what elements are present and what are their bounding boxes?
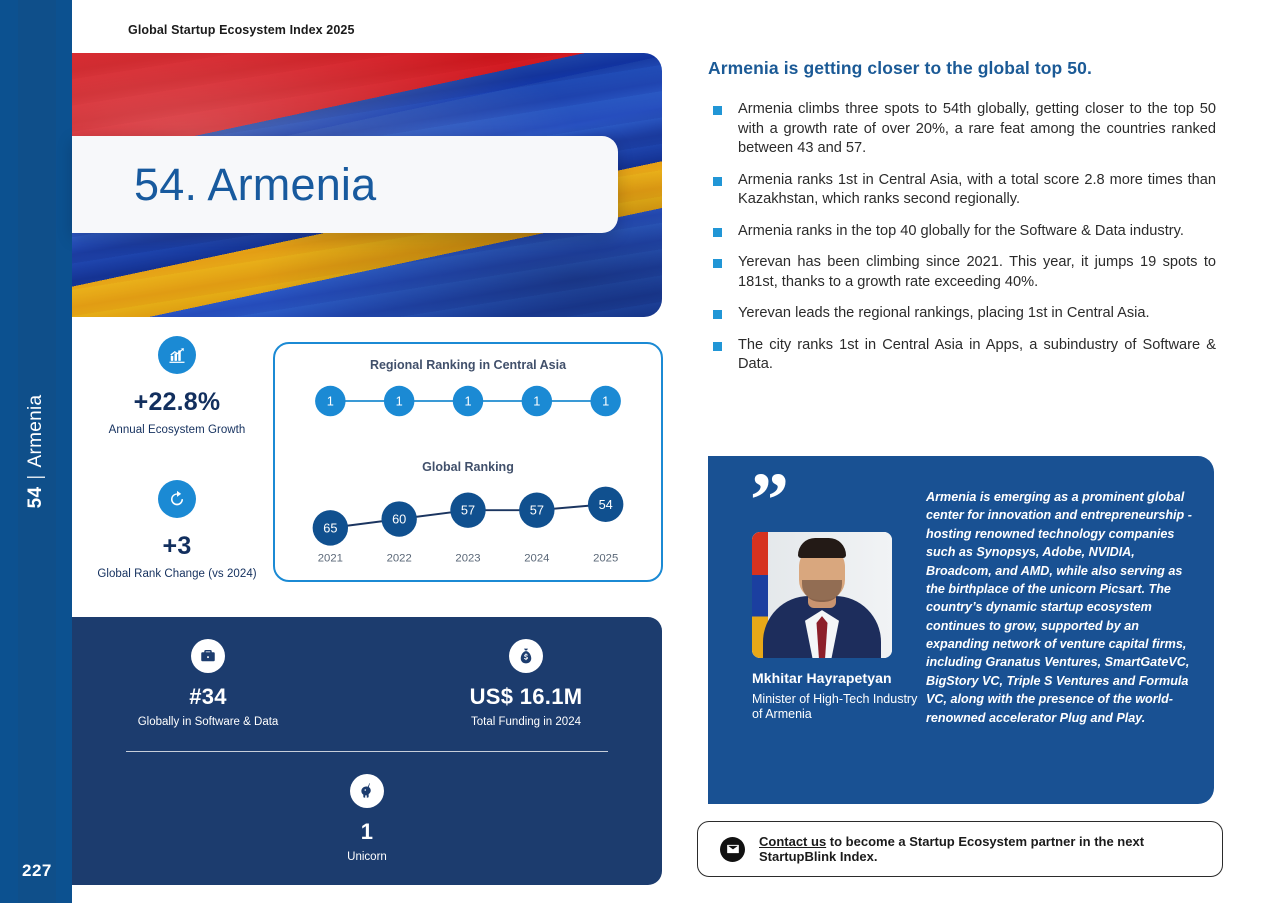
svg-text:1: 1 (602, 394, 609, 409)
global-node-2022: 60 (381, 501, 416, 536)
contact-bar[interactable]: Contact us to become a Startup Ecosystem… (697, 821, 1223, 877)
svg-text:60: 60 (392, 512, 406, 527)
global-node-2024: 57 (519, 492, 554, 527)
navy-stats-panel: #34 Globally in Software & Data US$ 16.1… (72, 617, 662, 885)
insight-bullet-text: Armenia ranks 1st in Central Asia, with … (738, 172, 1216, 208)
insight-bullet-text: Yerevan has been climbing since 2021. Th… (738, 254, 1216, 290)
envelope-icon (720, 837, 745, 862)
bullet-square-icon (713, 106, 722, 115)
kpi-growth-value: +22.8% (92, 388, 262, 417)
stat-total-funding-value: US$ 16.1M (421, 684, 631, 710)
svg-text:1: 1 (533, 394, 540, 409)
insight-bullet-text: Yerevan leads the regional rankings, pla… (738, 305, 1150, 321)
regional-node-2022: 1 (384, 386, 414, 416)
kpi-rank-change: +3 Global Rank Change (vs 2024) (92, 480, 262, 580)
avatar (752, 532, 892, 658)
quote-text: Armenia is emerging as a prominent globa… (926, 488, 1194, 727)
kpi-column: +22.8% Annual Ecosystem Growth +3 Global… (92, 336, 262, 624)
global-node-2023: 57 (450, 492, 485, 527)
document-header: Global Startup Ecosystem Index 2025 (128, 23, 355, 37)
stat-total-funding-label: Total Funding in 2024 (421, 716, 631, 728)
ranking-chart-svg: 1 1 1 1 1 65 (275, 344, 661, 580)
svg-text:1: 1 (396, 394, 403, 409)
svg-text:54: 54 (599, 497, 613, 512)
stat-unicorns: 1 Unicorn (262, 774, 472, 863)
bullet-square-icon (713, 177, 722, 186)
left-spine: 54 | Armenia 227 (0, 0, 72, 903)
stat-unicorns-value: 1 (262, 819, 472, 845)
kpi-growth: +22.8% Annual Ecosystem Growth (92, 336, 262, 436)
rank-change-icon (158, 480, 196, 518)
insight-bullet-text: Armenia climbs three spots to 54th globa… (738, 101, 1216, 156)
growth-chart-icon (158, 336, 196, 374)
insight-bullet-list: Armenia climbs three spots to 54th globa… (708, 100, 1216, 387)
country-title-card: 54. Armenia (72, 136, 618, 233)
insight-bullet-text: Armenia ranks in the top 40 globally for… (738, 223, 1184, 239)
right-headline: Armenia is getting closer to the global … (708, 58, 1214, 79)
navy-stats-row-primary: #34 Globally in Software & Data US$ 16.1… (72, 617, 662, 728)
insight-bullet: The city ranks 1st in Central Asia in Ap… (708, 336, 1216, 375)
bullet-square-icon (713, 342, 722, 351)
insight-bullet: Armenia ranks in the top 40 globally for… (708, 222, 1216, 242)
stat-software-data-rank: #34 Globally in Software & Data (103, 639, 313, 728)
insight-bullet: Yerevan leads the regional rankings, pla… (708, 304, 1216, 324)
navy-stats-row-secondary: 1 Unicorn (72, 752, 662, 863)
page-title: 54. Armenia (134, 159, 376, 211)
svg-text:57: 57 (530, 503, 544, 518)
svg-text:1: 1 (327, 394, 334, 409)
bullet-square-icon (713, 259, 722, 268)
regional-node-2024: 1 (522, 386, 552, 416)
money-bag-icon (509, 639, 543, 673)
insight-bullet-text: The city ranks 1st in Central Asia in Ap… (738, 337, 1216, 373)
quote-box: ” Mkhitar Hayrapetyan Minister of High-T… (708, 456, 1214, 804)
stat-software-data-label: Globally in Software & Data (103, 716, 313, 728)
unicorn-icon (350, 774, 384, 808)
global-node-2021: 65 (313, 510, 348, 545)
kpi-rank-change-label: Global Rank Change (vs 2024) (92, 568, 262, 580)
stat-unicorns-label: Unicorn (262, 851, 472, 863)
ranking-chart-card: Regional Ranking in Central Asia Global … (273, 342, 663, 582)
briefcase-icon (191, 639, 225, 673)
year-label-2021: 2021 (318, 552, 343, 564)
spine-rank: 54 (25, 487, 47, 509)
kpi-growth-label: Annual Ecosystem Growth (92, 424, 262, 436)
regional-node-2023: 1 (453, 386, 483, 416)
svg-text:57: 57 (461, 503, 475, 518)
spine-vertical-label: 54 | Armenia (0, 0, 72, 903)
regional-node-2021: 1 (315, 386, 345, 416)
spine-country: Armenia (25, 395, 47, 468)
insight-bullet: Yerevan has been climbing since 2021. Th… (708, 253, 1216, 292)
regional-node-2025: 1 (590, 386, 620, 416)
portrait-hair (798, 538, 846, 558)
year-label-2022: 2022 (387, 552, 412, 564)
insight-bullet: Armenia ranks 1st in Central Asia, with … (708, 171, 1216, 210)
svg-text:1: 1 (464, 394, 471, 409)
contact-text: Contact us to become a Startup Ecosystem… (759, 834, 1222, 864)
year-label-2023: 2023 (455, 552, 480, 564)
spine-separator: | (25, 474, 47, 479)
quote-person-name: Mkhitar Hayrapetyan (752, 670, 920, 686)
kpi-rank-change-value: +3 (92, 532, 262, 561)
stat-total-funding: US$ 16.1M Total Funding in 2024 (421, 639, 631, 728)
insight-bullet: Armenia climbs three spots to 54th globa… (708, 100, 1216, 159)
quote-attribution: ” Mkhitar Hayrapetyan Minister of High-T… (730, 472, 920, 723)
quotation-mark-icon: ” (750, 472, 920, 528)
bullet-square-icon (713, 310, 722, 319)
page-number: 227 (22, 861, 52, 881)
global-node-2025: 54 (588, 487, 623, 522)
stat-software-data-value: #34 (103, 684, 313, 710)
report-page: 54 | Armenia 227 Global Startup Ecosyste… (0, 0, 1280, 903)
year-label-2025: 2025 (593, 552, 618, 564)
bullet-square-icon (713, 228, 722, 237)
year-label-2024: 2024 (524, 552, 549, 564)
svg-text:65: 65 (323, 520, 337, 535)
contact-us-link[interactable]: Contact us (759, 834, 826, 849)
quote-person-role: Minister of High-Tech Industry of Armeni… (752, 692, 920, 723)
